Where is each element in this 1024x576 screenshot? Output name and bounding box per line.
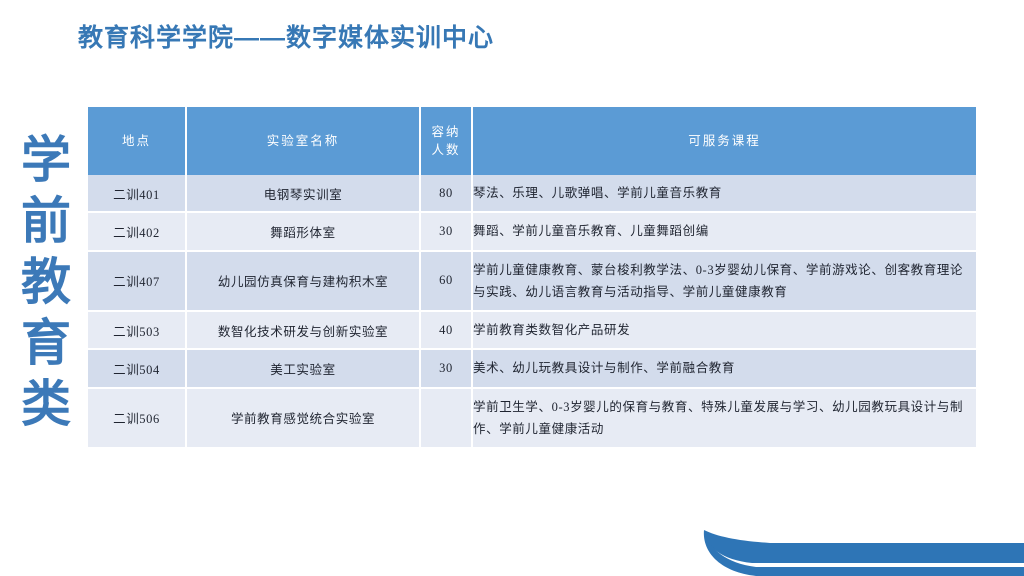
cell-location: 二训504 <box>88 349 186 387</box>
cell-capacity: 80 <box>420 175 472 212</box>
cell-capacity <box>420 388 472 449</box>
cell-lab-name: 舞蹈形体室 <box>186 212 420 250</box>
table-row: 二训504 美工实验室 30 美术、幼儿玩教具设计与制作、学前融合教育 <box>88 349 976 387</box>
cell-lab-name: 幼儿园仿真保育与建构积木室 <box>186 251 420 312</box>
cell-location: 二训402 <box>88 212 186 250</box>
category-char-5: 类 <box>14 374 78 435</box>
blue-swoosh-icon <box>660 530 1024 576</box>
cell-courses: 学前教育类数智化产品研发 <box>472 311 976 349</box>
cell-capacity: 30 <box>420 212 472 250</box>
cell-courses: 学前儿童健康教育、蒙台梭利教学法、0-3岁婴幼儿保育、学前游戏论、创客教育理论与… <box>472 251 976 312</box>
column-header-lab-name: 实验室名称 <box>186 107 420 175</box>
table-row: 二训407 幼儿园仿真保育与建构积木室 60 学前儿童健康教育、蒙台梭利教学法、… <box>88 251 976 312</box>
cell-lab-name: 美工实验室 <box>186 349 420 387</box>
cell-lab-name: 学前教育感觉统合实验室 <box>186 388 420 449</box>
table-header-row: 地点 实验室名称 容纳 人数 可服务课程 <box>88 107 976 175</box>
cell-lab-name: 电钢琴实训室 <box>186 175 420 212</box>
category-char-1: 学 <box>14 130 78 191</box>
cell-courses: 舞蹈、学前儿童音乐教育、儿童舞蹈创编 <box>472 212 976 250</box>
cell-capacity: 60 <box>420 251 472 312</box>
table-row: 二训503 数智化技术研发与创新实验室 40 学前教育类数智化产品研发 <box>88 311 976 349</box>
category-char-3: 教 <box>14 252 78 313</box>
category-label: 学 前 教 育 类 <box>14 130 78 435</box>
cell-location: 二训401 <box>88 175 186 212</box>
cell-capacity: 30 <box>420 349 472 387</box>
column-header-capacity: 容纳 人数 <box>420 107 472 175</box>
table-row: 二训401 电钢琴实训室 80 琴法、乐理、儿歌弹唱、学前儿童音乐教育 <box>88 175 976 212</box>
column-header-courses: 可服务课程 <box>472 107 976 175</box>
lab-table: 地点 实验室名称 容纳 人数 可服务课程 二训401 电钢琴实训室 80 琴法、… <box>88 107 976 449</box>
capacity-header-line-1: 容纳 <box>422 123 470 141</box>
table-row: 二训402 舞蹈形体室 30 舞蹈、学前儿童音乐教育、儿童舞蹈创编 <box>88 212 976 250</box>
cell-courses: 美术、幼儿玩教具设计与制作、学前融合教育 <box>472 349 976 387</box>
column-header-location: 地点 <box>88 107 186 175</box>
cell-lab-name: 数智化技术研发与创新实验室 <box>186 311 420 349</box>
category-char-4: 育 <box>14 313 78 374</box>
capacity-header-line-2: 人数 <box>422 141 470 159</box>
cell-courses: 琴法、乐理、儿歌弹唱、学前儿童音乐教育 <box>472 175 976 212</box>
category-char-2: 前 <box>14 191 78 252</box>
cell-location: 二训503 <box>88 311 186 349</box>
cell-courses: 学前卫生学、0-3岁婴儿的保育与教育、特殊儿童发展与学习、幼儿园教玩具设计与制作… <box>472 388 976 449</box>
page-title: 教育科学学院——数字媒体实训中心 <box>78 18 494 54</box>
cell-location: 二训407 <box>88 251 186 312</box>
table-row: 二训506 学前教育感觉统合实验室 学前卫生学、0-3岁婴儿的保育与教育、特殊儿… <box>88 388 976 449</box>
cell-location: 二训506 <box>88 388 186 449</box>
cell-capacity: 40 <box>420 311 472 349</box>
